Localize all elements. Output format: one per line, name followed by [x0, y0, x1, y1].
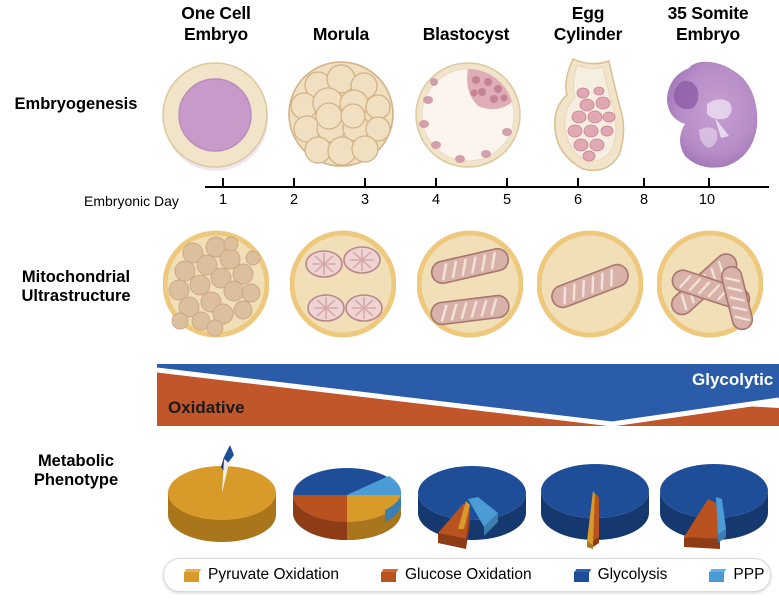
pie-chart-35-somite-embryo	[650, 441, 778, 549]
row-label-line2: Ultrastructure	[0, 287, 152, 306]
timeline-tick	[708, 178, 710, 187]
pie-chart-egg-cylinder	[531, 441, 659, 549]
legend-swatch-ppp-icon	[709, 569, 724, 582]
mitochondria-art-morula	[290, 228, 396, 340]
legend-label: Glycolysis	[598, 566, 668, 584]
timeline-tick-label-5: 5	[497, 192, 517, 208]
legend-item-glucose-oxidation[interactable]: Glucose Oxidation	[381, 566, 532, 584]
timeline-tick	[222, 178, 224, 187]
mitochondria-art-35-somite-embryo	[657, 228, 763, 340]
timeline-tick-label-2: 2	[284, 192, 304, 208]
stage-header-line2: Cylinder	[518, 24, 658, 45]
stage-header-line1: 35 Somite	[638, 3, 778, 24]
row-label-mitochondrial-ultrastructure: Mitochondrial Ultrastructure	[0, 268, 152, 306]
stage-header-35-somite-embryo: 35 Somite Embryo	[638, 3, 778, 45]
embryo-art-blastocyst	[412, 58, 524, 174]
timeline-tick-label-1: 1	[213, 192, 233, 208]
legend-item-ppp[interactable]: PPP	[709, 566, 764, 584]
timeline-tick	[643, 178, 645, 187]
mitochondria-art-one-cell-embryo	[163, 228, 269, 340]
legend-label: Pyruvate Oxidation	[208, 566, 339, 584]
embryo-art-egg-cylinder	[543, 55, 635, 177]
legend: Pyruvate Oxidation Glucose Oxidation Gly…	[163, 558, 771, 592]
pie-chart-blastocyst	[408, 441, 536, 549]
timeline-tick	[293, 178, 295, 187]
legend-label: Glucose Oxidation	[405, 566, 532, 584]
timeline-tick-label-6: 6	[568, 192, 588, 208]
embryogenesis-metabolism-figure: One Cell Embryo Morula Blastocyst Egg Cy…	[0, 0, 779, 606]
stage-header-blastocyst: Blastocyst	[396, 24, 536, 45]
embryo-art-morula	[285, 58, 397, 174]
row-label-metabolic-phenotype: Metabolic Phenotype	[0, 452, 152, 490]
timeline-tick	[506, 178, 508, 187]
legend-swatch-pyruvate-oxidation-icon	[184, 569, 199, 582]
timeline-tick-label-8: 8	[634, 192, 654, 208]
metabolic-gradient-band	[157, 364, 779, 430]
glycolytic-label: Glycolytic	[692, 370, 773, 390]
mitochondria-art-blastocyst	[417, 228, 523, 340]
legend-label: PPP	[733, 566, 764, 584]
pie-chart-one-cell-embryo	[158, 443, 286, 549]
row-label-embryogenesis: Embryogenesis	[0, 95, 152, 114]
legend-item-glycolysis[interactable]: Glycolysis	[574, 566, 668, 584]
stage-header-line1: One Cell	[146, 3, 286, 24]
stage-header-line2: Embryo	[638, 24, 778, 45]
timeline-tick-label-4: 4	[426, 192, 446, 208]
stage-header-one-cell-embryo: One Cell Embryo	[146, 3, 286, 45]
timeline-axis-label: Embryonic Day	[84, 193, 179, 209]
row-label-line1: Mitochondrial	[0, 268, 152, 287]
stage-header-line1: Morula	[271, 24, 411, 45]
row-label-line1: Metabolic	[0, 452, 152, 471]
timeline-tick-label-10: 10	[697, 192, 717, 208]
mitochondria-art-egg-cylinder	[537, 228, 643, 340]
legend-swatch-glucose-oxidation-icon	[381, 569, 396, 582]
timeline-tick	[577, 178, 579, 187]
oxidative-label: Oxidative	[168, 398, 245, 418]
pie-chart-morula	[283, 443, 411, 549]
timeline-tick	[364, 178, 366, 187]
row-label-line2: Phenotype	[0, 471, 152, 490]
timeline-tick	[435, 178, 437, 187]
stage-header-line1: Blastocyst	[396, 24, 536, 45]
timeline-tick-label-3: 3	[355, 192, 375, 208]
stage-header-morula: Morula	[271, 24, 411, 45]
embryo-art-one-cell-embryo	[158, 58, 274, 174]
legend-item-pyruvate-oxidation[interactable]: Pyruvate Oxidation	[184, 566, 339, 584]
embryo-art-35-somite-embryo	[655, 52, 773, 176]
stage-header-line1: Egg	[518, 3, 658, 24]
stage-header-line2: Embryo	[146, 24, 286, 45]
legend-swatch-glycolysis-icon	[574, 569, 589, 582]
row-label-text: Embryogenesis	[0, 95, 152, 114]
stage-header-egg-cylinder: Egg Cylinder	[518, 3, 658, 45]
timeline-axis-line	[205, 186, 769, 188]
